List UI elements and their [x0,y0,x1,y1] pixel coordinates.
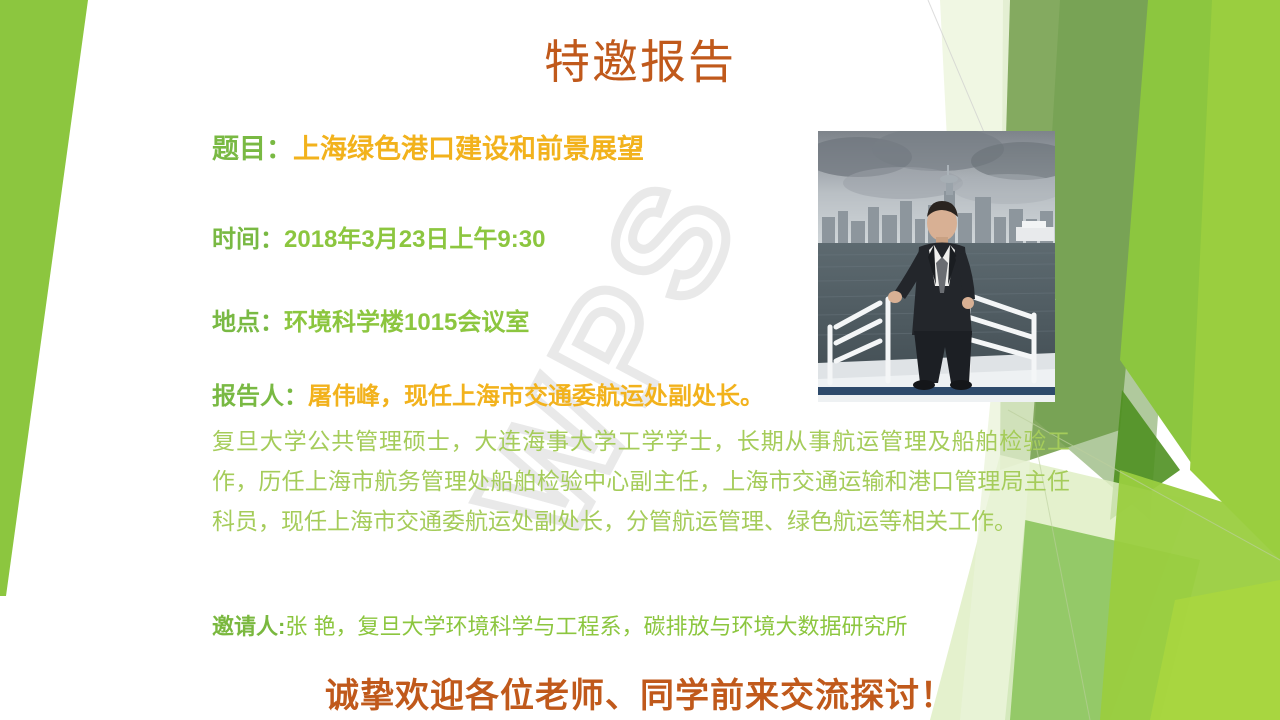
place-line: 地点：环境科学楼1015会议室 [212,302,529,337]
speaker-value: 屠伟峰，现任上海市交通委航运处副处长。 [308,383,764,410]
inviter-value: 张 艳，复旦大学环境科学与工程系，碳排放与环境大数据研究所 [285,614,907,639]
speaker-bio: 复旦大学公共管理硕士，大连海事大学工学学士，长期从事航运管理及船舶检验工作，历任… [212,421,1070,541]
speaker-photo-image [818,131,1055,402]
presentation-slide: WPS 特邀报告 题目：上海绿色港口建设和前景展望 时间：2018年3月23日上… [0,0,1280,720]
topic-value: 上海绿色港口建设和前景展望 [293,134,644,164]
time-value: 2018年3月23日上午9:30 [284,226,545,253]
topic-label: 题目： [212,134,293,164]
speaker-label: 报告人： [212,383,308,410]
topic-line: 题目：上海绿色港口建设和前景展望 [212,127,644,166]
inviter-line: 邀请人:张 艳，复旦大学环境科学与工程系，碳排放与环境大数据研究所 [212,609,907,641]
speaker-photo [818,131,1055,402]
speaker-line: 报告人：屠伟峰，现任上海市交通委航运处副处长。 [212,376,764,411]
inviter-label: 邀请人: [212,614,285,639]
closing-statement: 诚挚欢迎各位老师、同学前来交流探讨！ [0,668,1280,717]
page-title: 特邀报告 [0,26,1280,92]
slide-content: 特邀报告 题目：上海绿色港口建设和前景展望 时间：2018年3月23日上午9:3… [0,0,1280,720]
time-label: 时间： [212,226,284,253]
time-line: 时间：2018年3月23日上午9:30 [212,219,545,254]
place-label: 地点： [212,309,284,336]
place-value: 环境科学楼1015会议室 [284,309,529,336]
